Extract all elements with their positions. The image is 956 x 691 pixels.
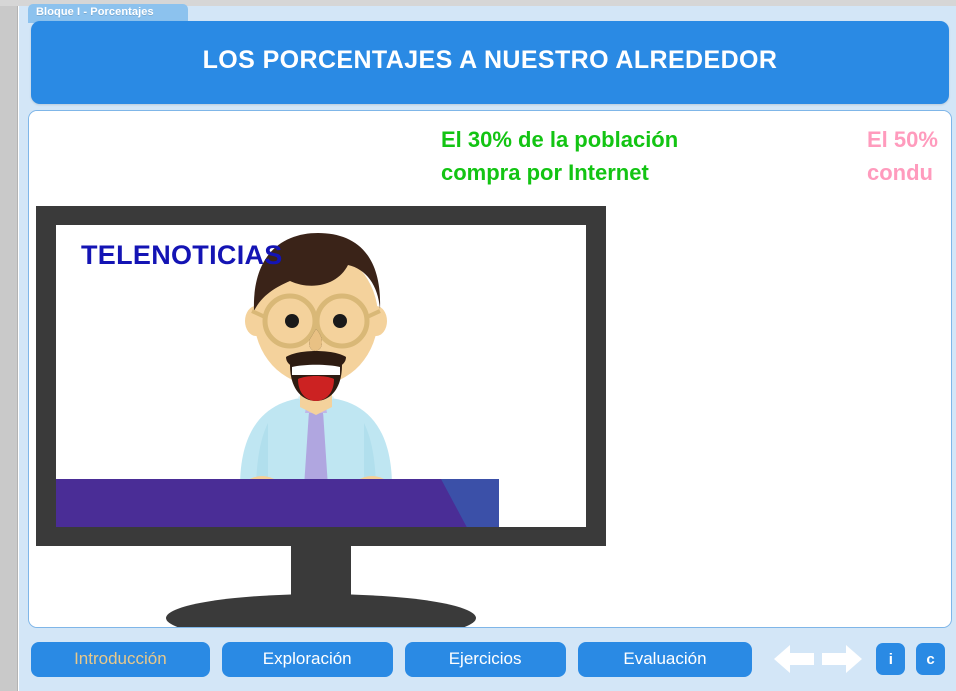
title-banner: LOS PORCENTAJES A NUESTRO ALREDEDOR: [31, 21, 949, 104]
callout-green-line1: El 30% de la población: [441, 123, 678, 156]
page-title: LOS PORCENTAJES A NUESTRO ALREDEDOR: [203, 46, 778, 75]
nav-button-evaluacion[interactable]: Evaluación: [578, 642, 753, 677]
nav-button-ejercicios[interactable]: Ejercicios: [405, 642, 566, 677]
nav-button-exploracion-label: Exploración: [263, 649, 352, 669]
news-desk: [56, 479, 496, 527]
callout-pink: El 50% condu: [867, 123, 938, 189]
arrow-right-icon[interactable]: [818, 642, 864, 676]
bottom-navigation-bar: Introducción Exploración Ejercicios Eval…: [19, 634, 956, 684]
nav-button-exploracion[interactable]: Exploración: [222, 642, 393, 677]
application-window: Bloque I - Porcentajes LOS PORCENTAJES A…: [0, 0, 956, 691]
callout-green: El 30% de la población compra por Intern…: [441, 123, 678, 189]
tv-channel-label: TELENOTICIAS: [81, 240, 283, 271]
navigation-arrows: [772, 642, 864, 676]
window-left-border: [0, 0, 18, 691]
nav-button-evaluacion-label: Evaluación: [623, 649, 706, 669]
nav-button-ejercicios-label: Ejercicios: [449, 649, 522, 669]
credits-button-label: c: [926, 651, 934, 668]
callout-green-line2: compra por Internet: [441, 156, 678, 189]
content-stage: El 30% de la población compra por Intern…: [28, 110, 952, 628]
nav-button-introduccion-label: Introducción: [74, 649, 167, 669]
tv-screen: TELENOTICIAS: [56, 225, 586, 527]
callout-pink-line1: El 50%: [867, 123, 938, 156]
callout-pink-line2: condu: [867, 156, 938, 189]
info-button[interactable]: i: [876, 643, 905, 675]
tab-label: Bloque I - Porcentajes: [36, 6, 154, 18]
nav-button-introduccion[interactable]: Introducción: [31, 642, 210, 677]
credits-button[interactable]: c: [916, 643, 945, 675]
info-button-label: i: [889, 651, 893, 668]
arrow-left-icon[interactable]: [772, 642, 818, 676]
